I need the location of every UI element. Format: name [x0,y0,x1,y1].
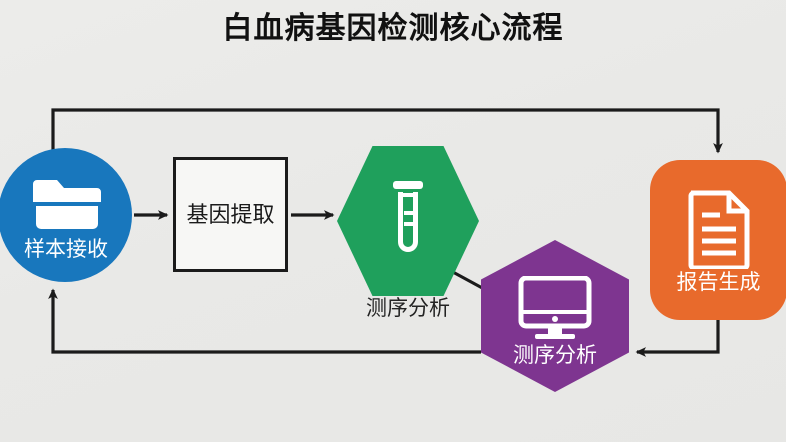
node-label: 样本接收 [24,238,108,262]
edge-report-to-sequencing-purple [637,320,718,352]
node-gene-extraction[interactable]: 基因提取 [173,157,288,272]
node-label-sequencing-analysis-green: 测序分析 [337,292,479,322]
node-label: 报告生成 [677,271,761,295]
node-report-generation[interactable]: 报告生成 [650,160,786,320]
monitor-icon [517,276,593,340]
document-icon [686,189,752,269]
node-label: 测序分析 [513,344,597,368]
test-tube-icon [380,179,436,265]
node-sample-reception[interactable]: 样本接收 [0,148,132,282]
edge-sample-to-report [53,110,718,152]
folder-icon [30,176,104,232]
flowchart-canvas: 白血病基因检测核心流程 [0,0,786,442]
node-label: 基因提取 [186,203,274,227]
